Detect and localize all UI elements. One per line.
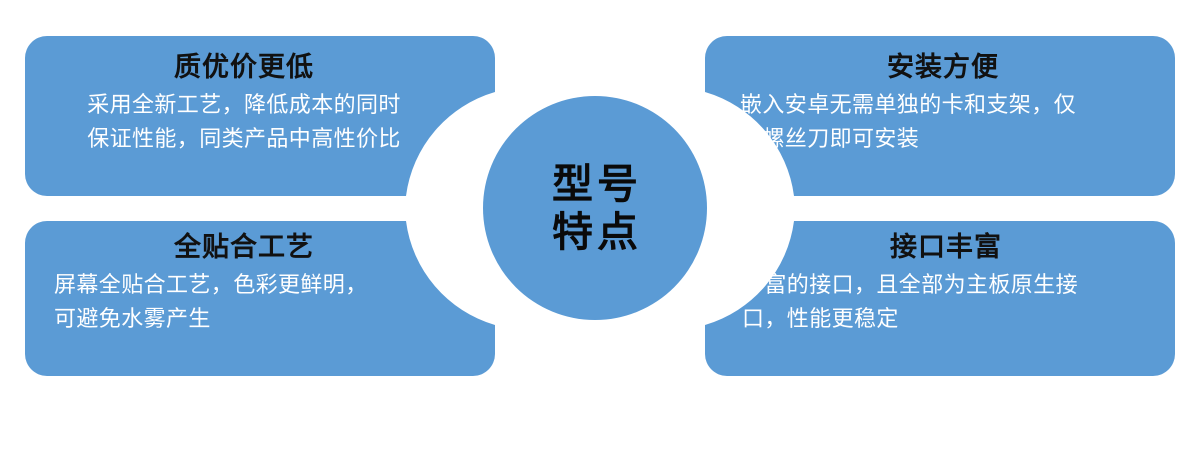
- card-body-line: 屏幕全贴合工艺，色彩更鲜明，: [54, 268, 454, 302]
- card-bottom-right: 接口丰富 丰富的接口，且全部为主板原生接 口，性能更稳定: [726, 232, 1166, 336]
- card-body-bottom-right: 丰富的接口，且全部为主板原生接 口，性能更稳定: [726, 268, 1166, 336]
- card-body-line: 可避免水雾产生: [54, 302, 454, 336]
- infographic-canvas: 质优价更低 采用全新工艺，降低成本的同时 保证性能，同类产品中高性价比 安装方便…: [0, 0, 1200, 449]
- card-body-top-left: 采用全新工艺，降低成本的同时 保证性能，同类产品中高性价比: [34, 88, 454, 156]
- card-body-line: 采用全新工艺，降低成本的同时: [34, 88, 454, 122]
- card-title-top-left: 质优价更低: [34, 52, 454, 82]
- card-title-top-right: 安装方便: [728, 52, 1158, 82]
- card-body-line: 口，性能更稳定: [742, 302, 1166, 336]
- card-body-line: 需螺丝刀即可安装: [740, 122, 1158, 156]
- card-body-line: 保证性能，同类产品中高性价比: [34, 122, 454, 156]
- card-top-left: 质优价更低 采用全新工艺，降低成本的同时 保证性能，同类产品中高性价比: [34, 52, 454, 156]
- card-top-right: 安装方便 嵌入安卓无需单独的卡和支架，仅 需螺丝刀即可安装: [728, 52, 1158, 156]
- card-body-line: 嵌入安卓无需单独的卡和支架，仅: [740, 88, 1158, 122]
- card-bottom-left: 全贴合工艺 屏幕全贴合工艺，色彩更鲜明， 可避免水雾产生: [34, 232, 454, 336]
- card-title-bottom-right: 接口丰富: [726, 232, 1166, 262]
- card-body-bottom-left: 屏幕全贴合工艺，色彩更鲜明， 可避免水雾产生: [34, 268, 454, 336]
- card-body-top-right: 嵌入安卓无需单独的卡和支架，仅 需螺丝刀即可安装: [728, 88, 1158, 156]
- center-circle-shape: [483, 96, 707, 320]
- card-title-bottom-left: 全贴合工艺: [34, 232, 454, 262]
- card-body-line: 丰富的接口，且全部为主板原生接: [742, 268, 1166, 302]
